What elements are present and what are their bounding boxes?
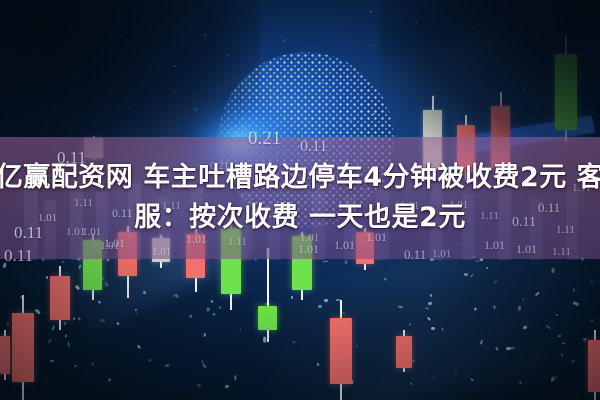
headline-line-1: 亿赢配资网 车主吐槽路边停车4分钟被收费2元 客 [0, 159, 600, 197]
headline-line-2: 服：按次收费 一天也是2元 [134, 199, 466, 237]
banner-image: 0.110.211.111.011.010.110.111.011.010.11… [0, 0, 600, 400]
headline-text: 亿赢配资网 车主吐槽路边停车4分钟被收费2元 客 服：按次收费 一天也是2元 [0, 137, 600, 259]
